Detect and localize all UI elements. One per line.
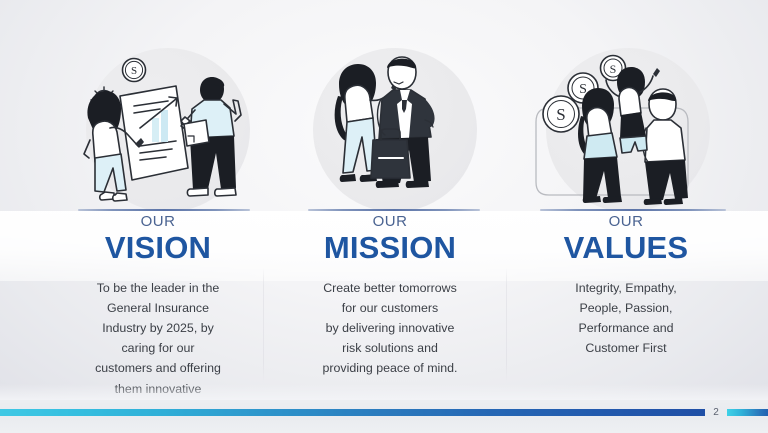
column-vision: OUR VISION To be the leader in the Gener…: [52, 214, 264, 419]
illustration-vision: S: [48, 0, 288, 212]
illustration-band: S: [0, 0, 768, 212]
svg-text:S: S: [131, 65, 137, 77]
column-divider-right: [506, 268, 507, 382]
headline-values: VALUES: [520, 232, 732, 265]
hero-rule-vision: [78, 209, 250, 211]
svg-text:S: S: [556, 105, 565, 124]
footer-accent-bar-left: [0, 409, 705, 416]
slide-footer: 2: [0, 400, 768, 433]
vision-artwork: S: [48, 0, 288, 212]
slide-canvas: S: [0, 0, 768, 433]
column-divider-left: [263, 268, 264, 382]
woman-standing: [578, 88, 622, 203]
svg-text:S: S: [610, 62, 617, 76]
page-number: 2: [705, 406, 727, 419]
column-values: OUR VALUES Integrity, Empathy, People, P…: [520, 214, 732, 358]
body-mission: Create better tomorrows for our customer…: [288, 278, 492, 378]
illustration-mission: [275, 0, 515, 212]
headline-mission: MISSION: [288, 232, 492, 265]
body-vision: To be the leader in the General Insuranc…: [52, 278, 264, 419]
hero-rule-mission: [308, 209, 480, 211]
eyebrow-values: OUR: [520, 214, 732, 231]
text-band: OUR VISION To be the leader in the Gener…: [0, 214, 768, 394]
dollar-coin-icon: S: [123, 59, 146, 82]
column-mission: OUR MISSION Create better tomorrows for …: [288, 214, 492, 379]
values-artwork: S S S: [508, 0, 748, 212]
illustration-values: S S S: [508, 0, 748, 212]
headline-vision: VISION: [52, 232, 264, 265]
man-carrying-child: [643, 89, 688, 205]
eyebrow-mission: OUR: [288, 214, 492, 231]
eyebrow-vision: OUR: [52, 214, 264, 231]
dollar-coin-icon: S: [543, 96, 579, 132]
body-values: Integrity, Empathy, People, Passion, Per…: [520, 278, 732, 358]
sticky-note: [184, 120, 209, 146]
mission-artwork: [275, 0, 515, 212]
footer-accent-bar-right: [727, 409, 768, 416]
hero-rule-values: [540, 209, 726, 211]
